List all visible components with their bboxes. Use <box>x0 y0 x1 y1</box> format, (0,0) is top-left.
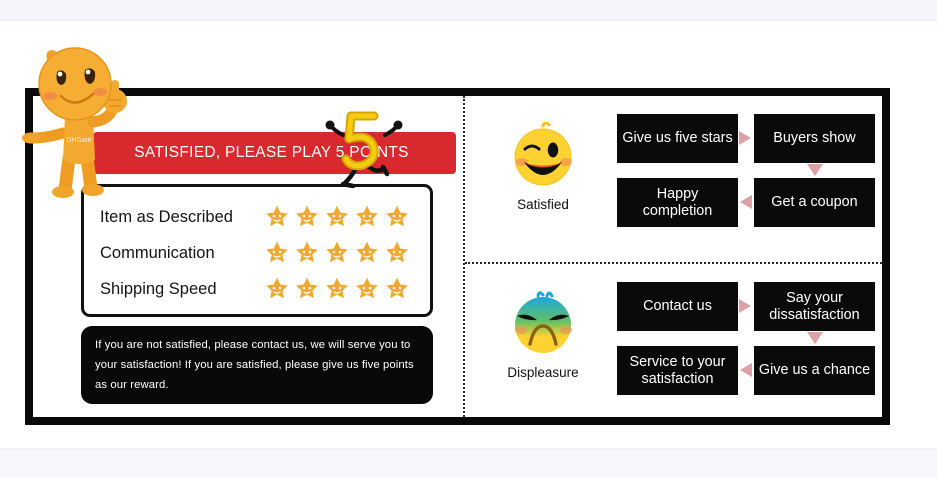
displeasure-mood: Displeasure <box>493 290 593 380</box>
disclaimer-text: If you are not satisfied, please contact… <box>95 335 419 395</box>
rating-row: Communication <box>100 235 416 271</box>
feedback-banner-image: SATISFIED, PLEASE PLAY 5 POINTS <box>0 0 937 477</box>
star-icon <box>384 240 410 266</box>
arrow-left-icon <box>740 363 752 377</box>
rating-label: Communication <box>100 244 264 263</box>
rating-label: Item as Described <box>100 208 264 227</box>
flow-step-buyers-show: Buyers show <box>754 114 875 163</box>
star-icon <box>384 204 410 230</box>
star-icon <box>354 204 380 230</box>
right-panel: Satisfied Give us five stars Buyers show… <box>465 96 882 417</box>
satisfied-flow-section: Satisfied Give us five stars Buyers show… <box>465 96 882 262</box>
arrow-left-icon <box>740 195 752 209</box>
angry-frowning-face-icon <box>510 290 576 356</box>
star-icon <box>294 276 320 302</box>
star-icon <box>324 276 350 302</box>
main-frame: SATISFIED, PLEASE PLAY 5 POINTS <box>25 88 890 425</box>
star-icon <box>264 276 290 302</box>
rating-row: Item as Described <box>100 199 416 235</box>
arrow-down-icon <box>807 164 823 176</box>
rating-stars <box>264 276 410 302</box>
rating-label: Shipping Speed <box>100 280 264 299</box>
satisfied-mood: Satisfied <box>493 122 593 212</box>
winking-happy-face-icon <box>510 122 576 188</box>
banner-text: SATISFIED, PLEASE PLAY 5 POINTS <box>134 144 409 162</box>
flow-step-give-us-a-chance: Give us a chance <box>754 346 875 395</box>
page-bottom-band <box>0 448 937 477</box>
star-icon <box>264 240 290 266</box>
arrow-right-icon <box>739 131 751 145</box>
star-icon <box>384 276 410 302</box>
disclaimer-box: If you are not satisfied, please contact… <box>81 326 433 404</box>
star-icon <box>354 240 380 266</box>
satisfied-play-five-points-banner: SATISFIED, PLEASE PLAY 5 POINTS <box>93 132 456 174</box>
arrow-right-icon <box>739 299 751 313</box>
star-icon <box>354 276 380 302</box>
mascot-character-icon: DHGate <box>17 38 137 208</box>
svg-text:DHGate: DHGate <box>66 137 91 144</box>
displeasure-flow-section: Displeasure Contact us Say your dissatis… <box>465 264 882 430</box>
flow-step-contact-us: Contact us <box>617 282 738 331</box>
arrow-down-icon <box>807 332 823 344</box>
rating-stars <box>264 240 410 266</box>
displeasure-mood-label: Displeasure <box>493 365 593 380</box>
flow-step-service-to-your-satisfaction: Service to your satisfaction <box>617 346 738 395</box>
star-icon <box>324 240 350 266</box>
flow-step-happy-completion: Happy completion <box>617 178 738 227</box>
satisfied-mood-label: Satisfied <box>493 197 593 212</box>
left-panel: SATISFIED, PLEASE PLAY 5 POINTS <box>33 96 463 417</box>
flow-step-give-us-five-stars: Give us five stars <box>617 114 738 163</box>
star-icon <box>324 204 350 230</box>
flow-step-say-your-dissatisfaction: Say your dissatisfaction <box>754 282 875 331</box>
star-icon <box>294 240 320 266</box>
star-icon <box>294 204 320 230</box>
page-top-band <box>0 0 937 21</box>
flow-step-get-a-coupon: Get a coupon <box>754 178 875 227</box>
star-icon <box>264 204 290 230</box>
rating-row: Shipping Speed <box>100 271 416 307</box>
rating-stars <box>264 204 410 230</box>
